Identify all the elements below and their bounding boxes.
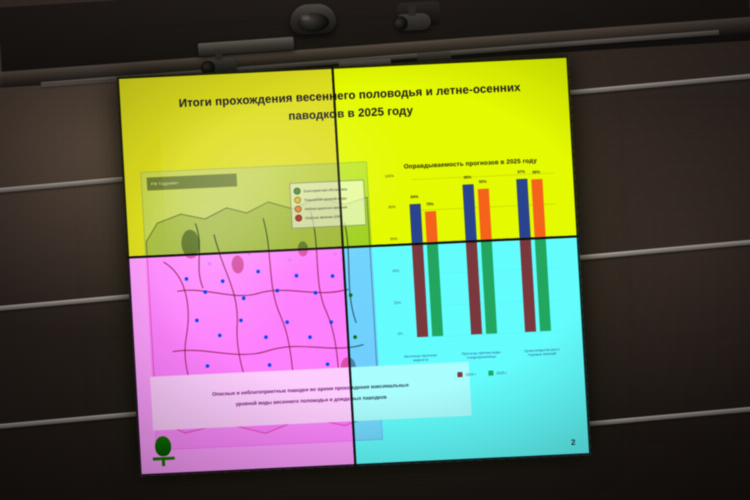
forecast-accuracy-chart: Оправдываемость прогнозов в 2025 году 0%… [379, 156, 573, 246]
chart-bar-value-label: 97% [517, 170, 525, 174]
flood-map[interactable]: РФ Гидромет [140, 161, 341, 256]
legend-swatch-icon [294, 205, 301, 212]
chart-bar-value-label: 95% [464, 175, 472, 179]
chart-category-label: Месячные прогнозыводности [390, 352, 451, 364]
chart-bar: 79% [425, 236, 443, 336]
logo-stem-shape [162, 457, 166, 466]
video-wall-panel-bottom-right[interactable]: Итоги прохождения весеннего половодья и … [343, 236, 592, 467]
legend-label: Неблагоприятное явление [305, 205, 342, 211]
video-wall[interactable]: Итоги прохождения весеннего половодья и … [117, 56, 592, 477]
logo-oval-shape [154, 436, 171, 457]
slide-render: Итоги прохождения весеннего половодья и … [127, 248, 354, 477]
legend-swatch-icon [294, 196, 301, 203]
chart-legend-item: 2024 г. [457, 371, 476, 377]
slide-render: Итоги прохождения весеннего половодья и … [332, 56, 579, 247]
chart-bar: 97% [516, 236, 536, 332]
legend-item: Опасное явление (ОЯ) [295, 211, 342, 223]
slide-page-number: 2 [571, 438, 576, 447]
chart-bar-group: 95%92% [462, 236, 497, 334]
chart-plot-area: 84%79%95%92%97%96% [396, 172, 567, 246]
legend-label: Опасное явление (ОЯ) [305, 214, 341, 220]
chart-legend-swatch-icon [488, 371, 493, 376]
chart-legend-label: 2024 г. [465, 372, 476, 377]
slide-render: Итоги прохождения весеннего половодья и … [117, 67, 342, 257]
chart-bar: 84% [409, 236, 428, 337]
chart-legend-item: 2025 г. [488, 370, 507, 376]
map-legend: Благоприятная обстановка Повышение уровн… [289, 179, 341, 228]
legend-swatch-icon [293, 187, 300, 194]
chart-y-tick: 40% [392, 269, 399, 273]
chart-bar-value-label: 92% [479, 179, 487, 183]
bullet-camera-icon [395, 13, 432, 32]
chart-legend-swatch-icon [457, 372, 462, 377]
forecast-accuracy-chart: Оправдываемость прогнозов в 2025 году 0%… [379, 236, 573, 380]
chart-y-tick: 80% [388, 205, 395, 209]
camera-stalk [215, 50, 223, 60]
dome-camera-icon [289, 3, 337, 35]
chart-y-tick: 100% [385, 174, 394, 178]
slide-render: Итоги прохождения весеннего половодья и … [343, 236, 592, 467]
chart-y-tick: 0% [398, 332, 403, 336]
video-wall-grid: Итоги прохождения весеннего половодья и … [117, 56, 592, 477]
chart-category-label: Прогнозы притока водыв водохранилища [451, 349, 512, 361]
chart-y-tick: 20% [394, 300, 401, 304]
chart-bar-value-label: 84% [411, 195, 419, 199]
video-wall-panel-top-left[interactable]: Итоги прохождения весеннего половодья и … [117, 67, 342, 257]
room-photo: Итоги прохождения весеннего половодья и … [0, 0, 750, 500]
chart-plot-area: 84%79%95%92%97%96% [396, 236, 567, 337]
organization-logo [151, 436, 175, 467]
chart-category-label: Сроки вскрытия рек иледовых явлений [511, 346, 572, 358]
camera-stalk [408, 5, 416, 16]
chart-bar-group: 95%92% [462, 176, 497, 247]
legend-swatch-icon [295, 214, 302, 221]
chart-bar-group: 97%96% [516, 236, 551, 332]
bullet-camera-lens [393, 16, 408, 31]
chart-legend-label: 2025 г. [496, 370, 507, 375]
chart-bar: 95% [462, 236, 482, 334]
chart-bar-value-label: 79% [426, 202, 434, 206]
chart-bar-value-label: 96% [532, 170, 540, 174]
legend-label: Повышение уровней воды [304, 196, 342, 202]
video-wall-panel-top-right[interactable]: Итоги прохождения весеннего половодья и … [332, 56, 579, 247]
legend-label: Благоприятная обстановка [303, 187, 341, 193]
chart-y-tick: 60% [390, 237, 397, 241]
chart-bar-group: 84%79% [408, 236, 443, 337]
chart-bar-group: 84%79% [408, 178, 443, 246]
video-wall-panel-bottom-left[interactable]: Итоги прохождения весеннего половодья и … [127, 248, 354, 477]
